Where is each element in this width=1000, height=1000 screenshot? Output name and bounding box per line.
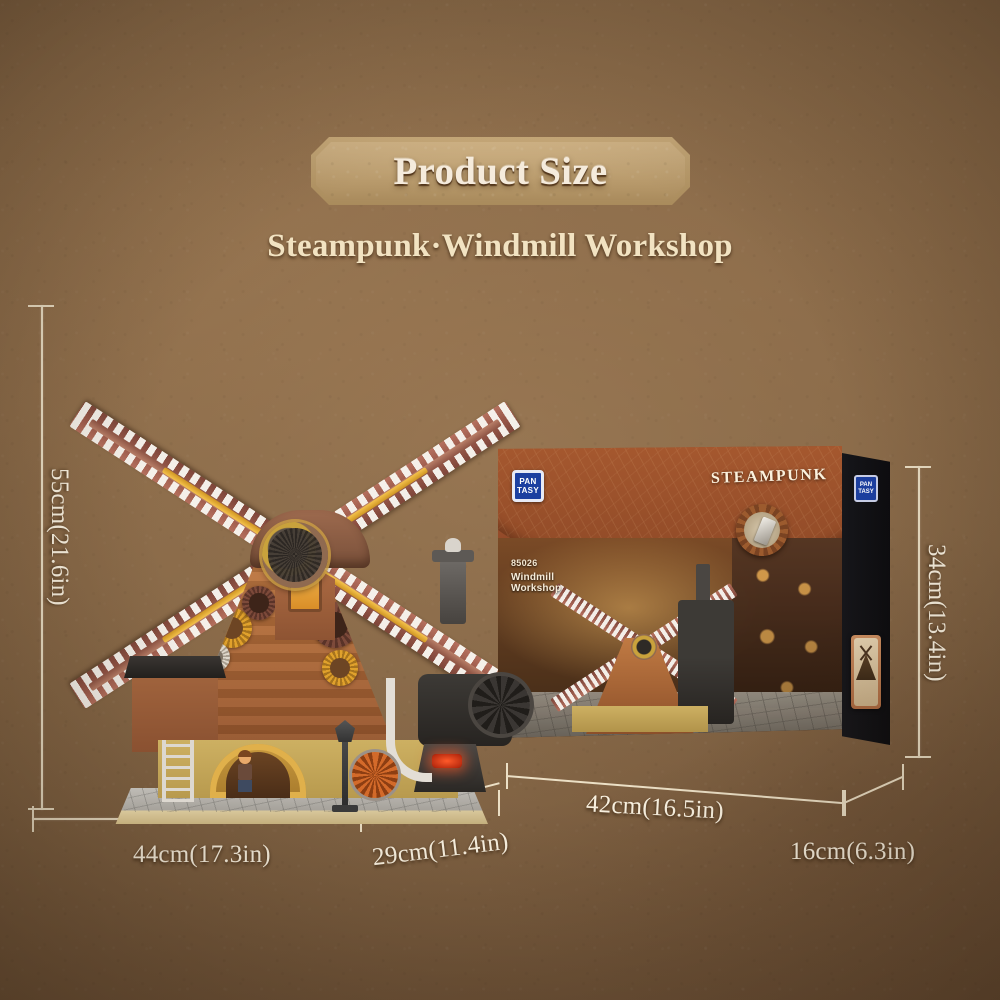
box-artwork-scene <box>498 538 842 738</box>
side-panel-windmill-card <box>851 635 881 709</box>
pantasy-logo-badge-side: PAN TASY <box>854 475 878 502</box>
product-package-box: PAN TASY 85026 Windmill Workshop STEAMPU… <box>498 446 890 754</box>
box-side-panel: PAN TASY <box>842 453 890 745</box>
box-art-ground-floor <box>572 706 708 732</box>
steam-boiler-machinery <box>410 618 514 800</box>
minifigure <box>238 752 252 792</box>
page-title: Product Size <box>311 137 690 205</box>
model-height-line <box>41 305 43 810</box>
boiler-chimney <box>440 560 466 624</box>
box-art-windmill <box>554 556 734 738</box>
box-height-cap-top <box>905 466 931 468</box>
model-width-label: 44cm(17.3in) <box>133 841 271 869</box>
side-card-illustration <box>854 638 878 706</box>
furnace-fire <box>432 754 462 768</box>
ladder <box>162 740 194 802</box>
box-depth-label: 16cm(6.3in) <box>790 838 915 866</box>
model-height-cap-top <box>28 305 54 307</box>
minifigure-body <box>238 764 252 780</box>
model-height-label: 55cm(21.6in) <box>45 468 73 606</box>
windmill-hub-gear <box>262 522 328 588</box>
logo-line-1: PAN <box>519 477 536 486</box>
product-model-photo <box>80 300 510 810</box>
product-name-line-1: Windmill <box>511 572 561 583</box>
tower-gear-2 <box>242 586 276 620</box>
box-height-line <box>918 466 920 758</box>
tower-gear-5 <box>322 650 358 686</box>
box-height-cap-bottom <box>905 756 931 758</box>
box-art-chimney <box>696 564 710 604</box>
side-shed-roof <box>124 656 226 678</box>
orange-fan-wheel <box>352 752 398 798</box>
product-subtitle: Steampunk·Windmill Workshop <box>0 228 1000 265</box>
model-width-cap-left <box>32 806 34 832</box>
box-front-panel: PAN TASY 85026 Windmill Workshop STEAMPU… <box>498 446 842 738</box>
logo-line-2: TASY <box>517 486 539 495</box>
box-depth-cap-left <box>844 790 846 816</box>
product-name-line-2: Workshop <box>511 583 561 594</box>
box-art-hub <box>631 634 657 660</box>
boiler-flywheel <box>472 676 530 734</box>
box-height-label: 34cm(13.4in) <box>922 544 950 682</box>
side-logo-line-2: TASY <box>858 489 874 496</box>
pantasy-logo-badge: PAN TASY <box>512 470 544 502</box>
minifigure-legs <box>238 780 252 792</box>
street-lamp <box>342 736 348 808</box>
side-logo-line-1: PAN <box>860 482 872 489</box>
minifigure-hair <box>238 750 252 757</box>
box-art-city-buildings <box>732 538 842 708</box>
box-depth-cap-right <box>902 764 904 790</box>
product-sku: 85026 <box>511 558 538 568</box>
product-name-on-box: Windmill Workshop <box>511 572 561 594</box>
